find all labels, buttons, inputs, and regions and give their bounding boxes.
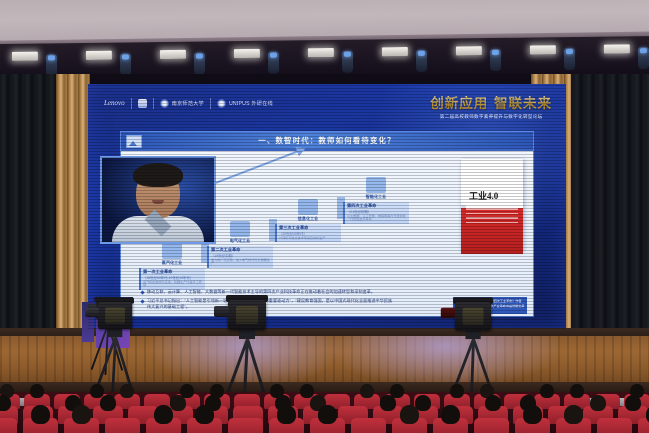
stage-light-fixture (160, 50, 186, 59)
step-detail-box: 第二次工业革命（19世纪中期）电力的广泛应用，进入电气时代与大规模生产 (207, 246, 273, 268)
njnu-logo: 南京师范大学 (160, 99, 204, 108)
audience-member (380, 395, 396, 411)
logo-divider (153, 98, 154, 109)
stage-light-fixture (12, 52, 38, 61)
curtain-gold-left (56, 74, 90, 336)
stage-light-fixture (308, 48, 334, 57)
audience-member (590, 395, 606, 411)
ai-brain-icon (366, 177, 386, 193)
unipus-logo: UNIPUS 外研在线 (217, 99, 273, 108)
tripod-head (108, 329, 122, 337)
unipus-emblem-icon (217, 99, 226, 108)
audience-member (100, 395, 116, 411)
audience-member (31, 405, 49, 424)
audience-member (485, 395, 501, 411)
broadcast-camera-center (98, 302, 132, 337)
industrial-revolution-step: 电气化工业第二次工业革命（19世纪中期）电力的广泛应用，进入电气时代与大规模生产 (207, 221, 273, 268)
step-detail-box: 第四次工业革命（21世纪初期）以大数据、人工智能、物联网等为代表的新一代智能技术… (343, 202, 409, 224)
bullet-text: 习近平总书记指出："人工智能是引领新一轮科技革命和产业革命的重要驱动力"，"建设… (147, 298, 393, 310)
step-description: 蒸汽机的发明与应用，机器生产代替手工劳动 (143, 281, 203, 289)
bullet-dot-icon (140, 291, 144, 295)
industrial-revolution-step: 智能化工业第四次工业革命（21世纪初期）以大数据、人工智能、物联网等为代表的新一… (343, 177, 409, 224)
curtain-dark-right (561, 74, 649, 336)
audience-member (195, 405, 213, 424)
moving-head-light (416, 50, 427, 72)
industrial-revolution-step: 信息化工业第三次工业革命（20世纪40年代）计算机与信息技术带来自动化生产 (275, 199, 341, 242)
stage-light-fixture (530, 45, 556, 54)
lenovo-script-logo: Lenovo (104, 99, 125, 107)
computer-network-icon (298, 199, 318, 215)
audience-member (30, 384, 44, 398)
audience-member (570, 384, 584, 398)
audience-member (360, 384, 374, 398)
audience-member (72, 405, 90, 424)
auditorium-seat (105, 418, 140, 433)
industrial-revolution-step: 蒸汽化工业第一次工业革命（18世纪60年代-19世纪40年代）蒸汽机的发明与应用… (139, 243, 205, 290)
presentation-icon (126, 135, 142, 148)
step-description: 电力的广泛应用，进入电气时代与大规模生产 (211, 259, 271, 267)
moving-head-light (638, 47, 649, 69)
step-caption: 智能化工业 (343, 194, 409, 200)
book-title: 工业4.0 (469, 189, 498, 202)
camera-viewfinder (214, 306, 229, 317)
speaker-eye (165, 184, 170, 186)
tripod-head (465, 331, 480, 340)
book-cover-top: 工业4.0 (461, 159, 523, 205)
audience-member (154, 405, 172, 424)
step-detail-box: 第三次工业革命（20世纪40年代）计算机与信息技术带来自动化生产 (275, 224, 341, 242)
camera-viewfinder (85, 307, 99, 317)
njnu-emblem-icon (160, 99, 169, 108)
book-cover-bottom (461, 208, 523, 254)
stage-light-fixture (382, 47, 408, 56)
step-description: 计算机与信息技术带来自动化生产 (279, 237, 339, 241)
electric-motor-icon (230, 221, 250, 237)
remote-speaker-video-feed (100, 156, 216, 244)
logo-divider (210, 98, 211, 109)
broadcast-camera-right (228, 300, 266, 339)
moving-head-light (564, 48, 575, 70)
broadcast-camera-right (455, 302, 491, 339)
step-caption: 电气化工业 (207, 238, 273, 244)
book-cover-line (466, 217, 518, 219)
camera-viewfinder (441, 308, 455, 318)
audience-member (120, 384, 134, 398)
speaker-eye (144, 184, 149, 186)
auditorium-seat (474, 418, 509, 433)
step-description: 以大数据、人工智能、物联网等为代表的新一代智能技术革命 (347, 215, 407, 223)
moving-head-light (268, 52, 279, 74)
steam-train-icon (162, 243, 182, 259)
auditorium-seat (228, 418, 263, 433)
book-cover-line (466, 213, 518, 215)
audience-member (450, 384, 464, 398)
audience-member (564, 405, 582, 424)
book-cover-image: 工业4.0 (461, 159, 523, 251)
book-cover-line (466, 222, 518, 224)
stage-light-fixture (604, 44, 630, 53)
auditorium-seat (351, 418, 386, 433)
stage-light-fixture (86, 51, 112, 60)
speaker-hair (133, 163, 183, 187)
auditorium-seat (0, 418, 17, 433)
stage-light-spill (330, 336, 560, 388)
moving-head-light (342, 51, 353, 73)
stage-light-fixture (234, 49, 260, 58)
step-caption: 信息化工业 (275, 216, 341, 222)
bullet-dot-icon (140, 299, 144, 303)
camera-body (98, 302, 132, 329)
curtain-dark-left (0, 74, 62, 336)
audience-member (540, 384, 554, 398)
event-title-block: 创新应用 智联未来 第二届高校教师数字素养提升与数字化转型论坛 (430, 92, 552, 120)
audience-member (625, 395, 641, 411)
moving-head-light (120, 53, 131, 75)
event-main-title: 创新应用 智联未来 (430, 92, 552, 112)
tripod-head (239, 330, 255, 339)
moving-head-light (490, 49, 501, 71)
auditorium-seat (597, 418, 632, 433)
stage-light-fixture (456, 46, 482, 55)
sponsor-logo-bar: Lenovo 南京师范大学 UNIPUS 外研在线 (104, 95, 273, 111)
book-cover-line (466, 208, 518, 210)
step-detail-box: 第一次工业革命（18世纪60年代-19世纪40年代）蒸汽机的发明与应用，机器生产… (139, 268, 205, 290)
audience-member (400, 405, 418, 424)
camera-body (228, 300, 266, 330)
audience-member (318, 405, 336, 424)
audience-member (170, 395, 186, 411)
audience-area (0, 392, 649, 433)
slide-header: 一、数智时代：教师如何看待变化？ (121, 132, 533, 149)
audience-member (277, 405, 295, 424)
slide-title: 一、数智时代：教师如何看待变化？ (258, 135, 395, 146)
conference-hall-photo: Lenovo 南京师范大学 UNIPUS 外研在线 创新应用 智联未来 第二届高… (0, 0, 649, 433)
njnu-logo-label: 南京师范大学 (172, 100, 204, 107)
unipus-logo-label: UNIPUS 外研在线 (229, 100, 273, 107)
audience-member (441, 405, 459, 424)
audience-member (523, 405, 541, 424)
step-caption: 蒸汽化工业 (139, 260, 205, 266)
audience-member (0, 395, 11, 411)
event-subtitle: 第二届高校教师数字素养提升与数字化转型论坛 (430, 114, 552, 120)
book-logo (138, 99, 147, 108)
camera-body (455, 302, 491, 331)
moving-head-light (194, 53, 205, 75)
led-stage-screen: Lenovo 南京师范大学 UNIPUS 外研在线 创新应用 智联未来 第二届高… (88, 84, 566, 329)
logo-divider (131, 98, 132, 109)
